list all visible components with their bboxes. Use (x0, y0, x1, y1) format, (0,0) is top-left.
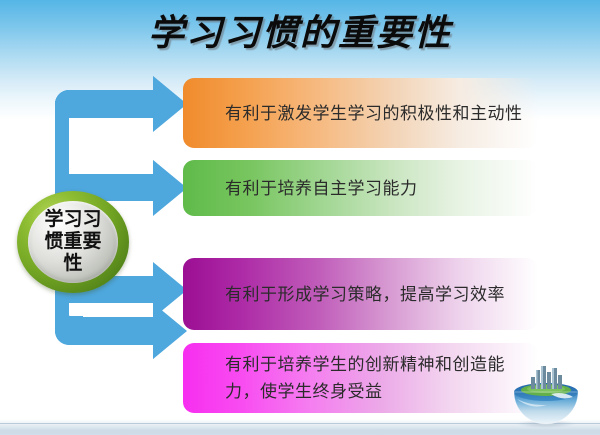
branch-box-4[interactable]: 有利于培养学生的创新精神和创造能力，使学生终身受益 (183, 343, 538, 413)
branch-box-3[interactable]: 有利于形成学习策略，提高学习效率 (183, 258, 538, 330)
branch-label-4: 有利于培养学生的创新精神和创造能力，使学生终身受益 (183, 351, 538, 405)
branch-label-1: 有利于激发学生学习的积极性和主动性 (183, 100, 533, 127)
slide-canvas: 学习习惯的重要性 (0, 0, 600, 435)
glass-globe-city-icon (505, 362, 587, 428)
branch-label-2: 有利于培养自主学习能力 (183, 175, 428, 202)
branch-label-3: 有利于形成学习策略，提高学习效率 (183, 281, 515, 308)
branch-box-2[interactable]: 有利于培养自主学习能力 (183, 160, 538, 216)
branch-box-1[interactable]: 有利于激发学生学习的积极性和主动性 (183, 78, 538, 148)
central-node-inner: 学习习惯重要性 (28, 201, 118, 283)
central-node-label: 学习习惯重要性 (40, 209, 106, 275)
central-node[interactable]: 学习习惯重要性 (17, 191, 129, 293)
page-title: 学习习惯的重要性 (0, 10, 600, 56)
